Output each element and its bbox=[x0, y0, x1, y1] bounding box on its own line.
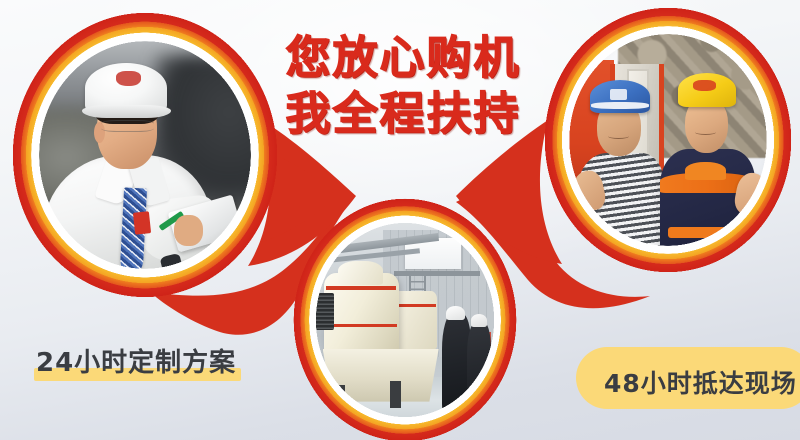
headline-line-1: 您放心购机 bbox=[268, 34, 538, 82]
promo-banner: 您放心购机 我全程扶持 24小时定制方案 48小时抵达现场 bbox=[0, 0, 800, 440]
factory-photo bbox=[311, 218, 498, 422]
engineer-photo bbox=[34, 35, 256, 274]
circle-workers-thumbs-up bbox=[544, 7, 792, 273]
headline-line-2: 我全程扶持 bbox=[268, 90, 538, 138]
circle-factory-machinery bbox=[293, 198, 517, 440]
left-label-text: 24小时定制方案 bbox=[36, 342, 236, 379]
circle-engineer-portrait bbox=[12, 12, 278, 298]
workers-photo bbox=[564, 29, 771, 251]
right-label-text: 48小时抵达现场 bbox=[604, 364, 797, 400]
headline: 您放心购机 我全程扶持 bbox=[268, 34, 538, 137]
